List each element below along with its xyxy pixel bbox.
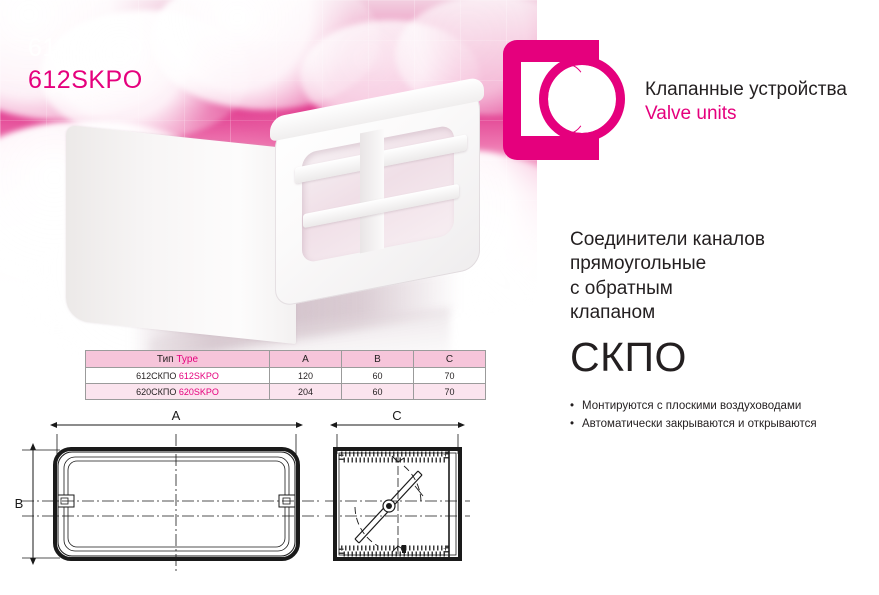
duct-body xyxy=(66,125,296,344)
cell-c: 70 xyxy=(414,368,486,384)
cell-type-ru: 620СКПО xyxy=(136,387,176,397)
category-label-ru: Клапанные устройства xyxy=(645,78,847,102)
product-code: СКПО xyxy=(570,337,870,378)
category-badge xyxy=(503,40,633,160)
column-header-b: B xyxy=(342,351,414,368)
right-column: Соединители каналов прямоугольные с обра… xyxy=(570,228,870,434)
front-view-drawing: A B xyxy=(15,408,320,574)
table-header-row: Тип Type A B C xyxy=(86,351,486,368)
category-badge-text: Клапанные устройства Valve units xyxy=(645,78,847,127)
category-label-en: Valve units xyxy=(645,102,847,126)
cell-type-en: 620SKPO xyxy=(179,387,219,397)
front-dim-a-label: A xyxy=(172,408,181,423)
cell-type: 612СКПО 612SKPO xyxy=(86,368,270,384)
hero-title-ru: 612СКПО xyxy=(28,36,143,61)
hero-title-en: 612SKPO xyxy=(28,68,143,93)
front-dim-b-label: B xyxy=(15,496,24,511)
feature-list: Монтируются с плоскими воздуховодами Авт… xyxy=(570,398,870,434)
cell-b: 60 xyxy=(342,384,414,400)
product-description-line: Соединители каналов xyxy=(570,228,870,252)
product-description-line: клапаном xyxy=(570,301,870,325)
valve-arc-icon xyxy=(547,64,589,134)
side-view-drawing: C xyxy=(325,408,470,559)
table-row: 612СКПО 612SKPO 120 60 70 xyxy=(86,368,486,384)
feature-item: Автоматически закрываются и открываются xyxy=(570,416,870,434)
cell-type-ru: 612СКПО xyxy=(136,371,176,381)
cell-a: 120 xyxy=(270,368,342,384)
spec-table: Тип Type A B C 612СКПО 612SKPO 120 60 70… xyxy=(85,350,486,400)
column-header-c: C xyxy=(414,351,486,368)
cell-b: 60 xyxy=(342,368,414,384)
feature-item: Монтируются с плоскими воздуховодами xyxy=(570,398,870,416)
technical-drawings: A B xyxy=(0,404,520,589)
product-description-line: с обратным xyxy=(570,277,870,301)
product-photo xyxy=(60,95,480,360)
cell-type: 620СКПО 620SKPO xyxy=(86,384,270,400)
cell-a: 204 xyxy=(270,384,342,400)
product-description-line: прямоугольные xyxy=(570,252,870,276)
column-header-a: A xyxy=(270,351,342,368)
cell-type-en: 612SKPO xyxy=(179,371,219,381)
column-header-type: Тип Type xyxy=(86,351,270,368)
cell-c: 70 xyxy=(414,384,486,400)
table-row: 620СКПО 620SKPO 204 60 70 xyxy=(86,384,486,400)
product-description: Соединители каналов прямоугольные с обра… xyxy=(570,228,870,325)
duct-tab xyxy=(360,129,384,254)
side-dim-c-label: C xyxy=(392,408,401,423)
column-header-type-ru: Тип xyxy=(157,354,174,365)
column-header-type-en: Type xyxy=(176,354,198,365)
